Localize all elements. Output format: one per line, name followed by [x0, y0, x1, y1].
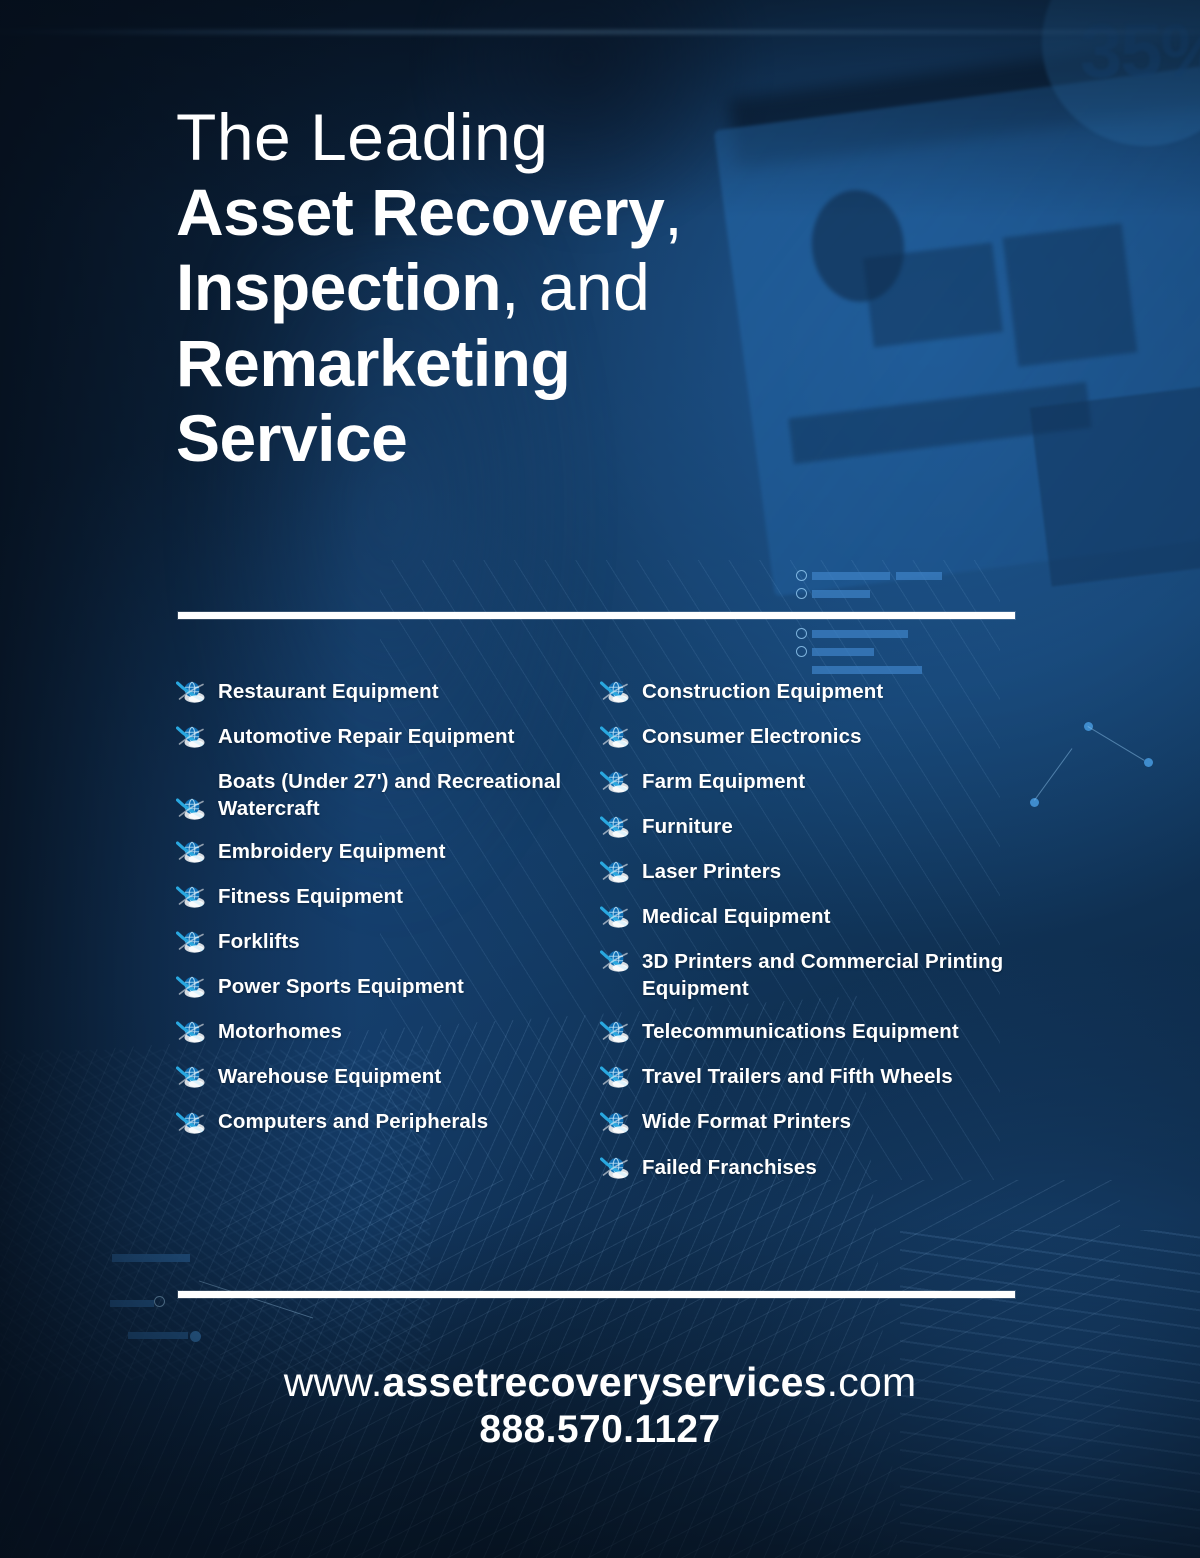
footer-block: www.assetrecoveryservices.com 888.570.11…	[0, 1358, 1200, 1452]
list-item[interactable]: Farm Equipment	[600, 768, 1036, 795]
url-domain: assetrecoveryservices	[382, 1359, 826, 1405]
globe-swoosh-logo-icon	[176, 724, 206, 749]
list-item[interactable]: Power Sports Equipment	[176, 973, 596, 1000]
list-item[interactable]: Consumer Electronics	[600, 723, 1036, 750]
globe-swoosh-logo-icon	[600, 859, 630, 884]
list-item-label: Furniture	[642, 813, 733, 840]
equipment-list-left: Restaurant EquipmentAutomotive Repair Eq…	[176, 678, 596, 1154]
list-item[interactable]: Furniture	[600, 813, 1036, 840]
equipment-list-right: Construction EquipmentConsumer Electroni…	[600, 678, 1036, 1199]
list-item[interactable]: Embroidery Equipment	[176, 838, 596, 865]
list-item[interactable]: Telecommunications Equipment	[600, 1018, 1036, 1045]
list-item-label: Automotive Repair Equipment	[218, 723, 515, 750]
list-item-label: Construction Equipment	[642, 678, 883, 705]
headline-line-5: Service	[176, 401, 896, 476]
list-item[interactable]: Laser Printers	[600, 858, 1036, 885]
globe-swoosh-logo-icon	[600, 1155, 630, 1180]
list-item-label: Telecommunications Equipment	[642, 1018, 959, 1045]
headline-line-1: The Leading	[176, 100, 896, 175]
globe-swoosh-logo-icon	[176, 796, 206, 821]
list-item[interactable]: Motorhomes	[176, 1018, 596, 1045]
globe-swoosh-logo-icon	[600, 679, 630, 704]
list-item-label: Motorhomes	[218, 1018, 342, 1045]
headline-block: The Leading Asset Recovery, Inspection, …	[176, 100, 896, 476]
flyer-page: 35% The Leading Asset Recovery, Inspecti…	[0, 0, 1200, 1558]
headline-line-3-rest: , and	[501, 250, 650, 324]
headline-line-3-bold: Inspection	[176, 250, 501, 324]
list-item[interactable]: Wide Format Printers	[600, 1108, 1036, 1135]
list-item[interactable]: Boats (Under 27') and Recreational Water…	[176, 768, 596, 822]
globe-swoosh-logo-icon	[176, 1019, 206, 1044]
divider-bottom	[178, 1291, 1015, 1298]
globe-swoosh-logo-icon	[176, 1110, 206, 1135]
list-item-label: Medical Equipment	[642, 903, 831, 930]
list-item[interactable]: Warehouse Equipment	[176, 1063, 596, 1090]
globe-swoosh-logo-icon	[600, 1064, 630, 1089]
list-item[interactable]: Restaurant Equipment	[176, 678, 596, 705]
globe-swoosh-logo-icon	[600, 948, 630, 973]
divider-top	[178, 612, 1015, 619]
list-item-label: Forklifts	[218, 928, 300, 955]
list-item-label: Laser Printers	[642, 858, 781, 885]
flyer-content: The Leading Asset Recovery, Inspection, …	[0, 0, 1200, 1558]
list-item-label: Boats (Under 27') and Recreational Water…	[218, 768, 596, 822]
list-item-label: Restaurant Equipment	[218, 678, 439, 705]
list-item-label: Failed Franchises	[642, 1154, 817, 1181]
globe-swoosh-logo-icon	[176, 839, 206, 864]
globe-swoosh-logo-icon	[176, 679, 206, 704]
globe-swoosh-logo-icon	[600, 724, 630, 749]
list-item[interactable]: Medical Equipment	[600, 903, 1036, 930]
list-item[interactable]: Automotive Repair Equipment	[176, 723, 596, 750]
list-item[interactable]: Forklifts	[176, 928, 596, 955]
list-item[interactable]: Fitness Equipment	[176, 883, 596, 910]
url-tld: .com	[827, 1359, 917, 1405]
list-item-label: Consumer Electronics	[642, 723, 862, 750]
globe-swoosh-logo-icon	[600, 814, 630, 839]
headline-line-2-bold: Asset Recovery	[176, 175, 664, 249]
list-item-label: Fitness Equipment	[218, 883, 403, 910]
list-item-label: Travel Trailers and Fifth Wheels	[642, 1063, 953, 1090]
headline-line-3: Inspection, and	[176, 250, 896, 325]
globe-swoosh-logo-icon	[600, 769, 630, 794]
globe-swoosh-logo-icon	[176, 929, 206, 954]
globe-swoosh-logo-icon	[600, 904, 630, 929]
list-item[interactable]: Failed Franchises	[600, 1154, 1036, 1181]
headline-line-2: Asset Recovery,	[176, 175, 896, 250]
globe-swoosh-logo-icon	[176, 884, 206, 909]
list-item-label: Embroidery Equipment	[218, 838, 446, 865]
headline-line-4: Remarketing	[176, 326, 896, 401]
list-item-label: Farm Equipment	[642, 768, 805, 795]
list-item[interactable]: Construction Equipment	[600, 678, 1036, 705]
globe-swoosh-logo-icon	[600, 1110, 630, 1135]
phone-number[interactable]: 888.570.1127	[0, 1408, 1200, 1452]
list-item-label: 3D Printers and Commercial Printing Equi…	[642, 948, 1036, 1002]
list-item[interactable]: 3D Printers and Commercial Printing Equi…	[600, 948, 1036, 1002]
list-item[interactable]: Travel Trailers and Fifth Wheels	[600, 1063, 1036, 1090]
globe-swoosh-logo-icon	[176, 974, 206, 999]
globe-swoosh-logo-icon	[600, 1019, 630, 1044]
list-item-label: Power Sports Equipment	[218, 973, 464, 1000]
globe-swoosh-logo-icon	[176, 1064, 206, 1089]
list-item-label: Warehouse Equipment	[218, 1063, 441, 1090]
url-prefix: www.	[284, 1359, 383, 1405]
headline-line-2-punct: ,	[664, 175, 683, 249]
website-url[interactable]: www.assetrecoveryservices.com	[0, 1358, 1200, 1406]
list-item[interactable]: Computers and Peripherals	[176, 1108, 596, 1135]
list-item-label: Computers and Peripherals	[218, 1108, 488, 1135]
list-item-label: Wide Format Printers	[642, 1108, 851, 1135]
